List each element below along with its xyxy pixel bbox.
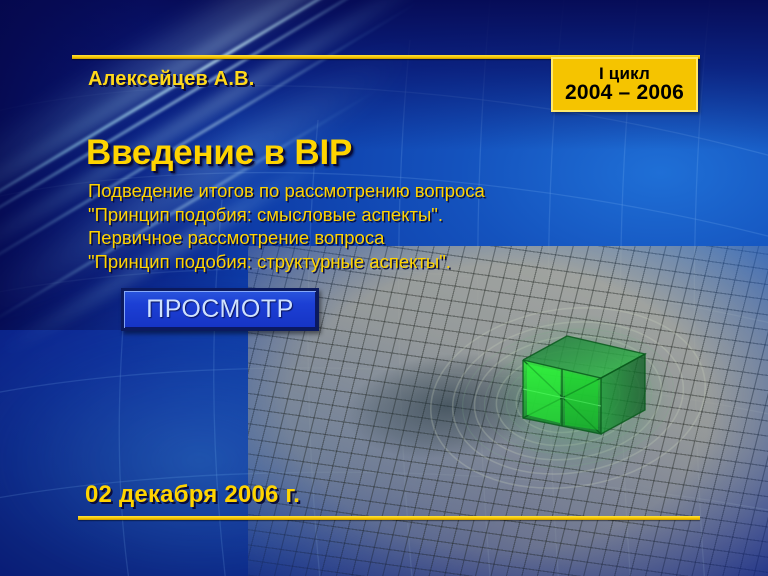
cycle-badge: I цикл 2004 – 2006 <box>551 57 698 112</box>
subtitle-line-1: Подведение итогов по рассмотрению вопрос… <box>88 179 485 203</box>
slide-title: Введение в BIP <box>86 133 352 173</box>
subtitle-line-2: "Принцип подобия: смысловые аспекты". <box>88 203 485 227</box>
subtitle-line-4: "Принцип подобия: структурные аспекты". <box>88 250 485 274</box>
green-cube-graphic <box>505 330 655 450</box>
author-name: Алексейцев А.В. <box>88 68 255 91</box>
view-button[interactable]: ПРОСМОТР <box>121 288 319 331</box>
slide-subtitle: Подведение итогов по рассмотрению вопрос… <box>88 179 485 273</box>
subtitle-line-3: Первичное рассмотрение вопроса <box>88 226 485 250</box>
cycle-badge-line1: I цикл <box>599 65 650 82</box>
bottom-divider-rule <box>78 516 700 520</box>
cycle-badge-line2: 2004 – 2006 <box>565 82 684 103</box>
slide-date: 02 декабря 2006 г. <box>85 481 300 509</box>
view-button-label: ПРОСМОТР <box>146 295 294 324</box>
presentation-slide: I цикл 2004 – 2006 Алексейцев А.В. Введе… <box>0 0 768 576</box>
